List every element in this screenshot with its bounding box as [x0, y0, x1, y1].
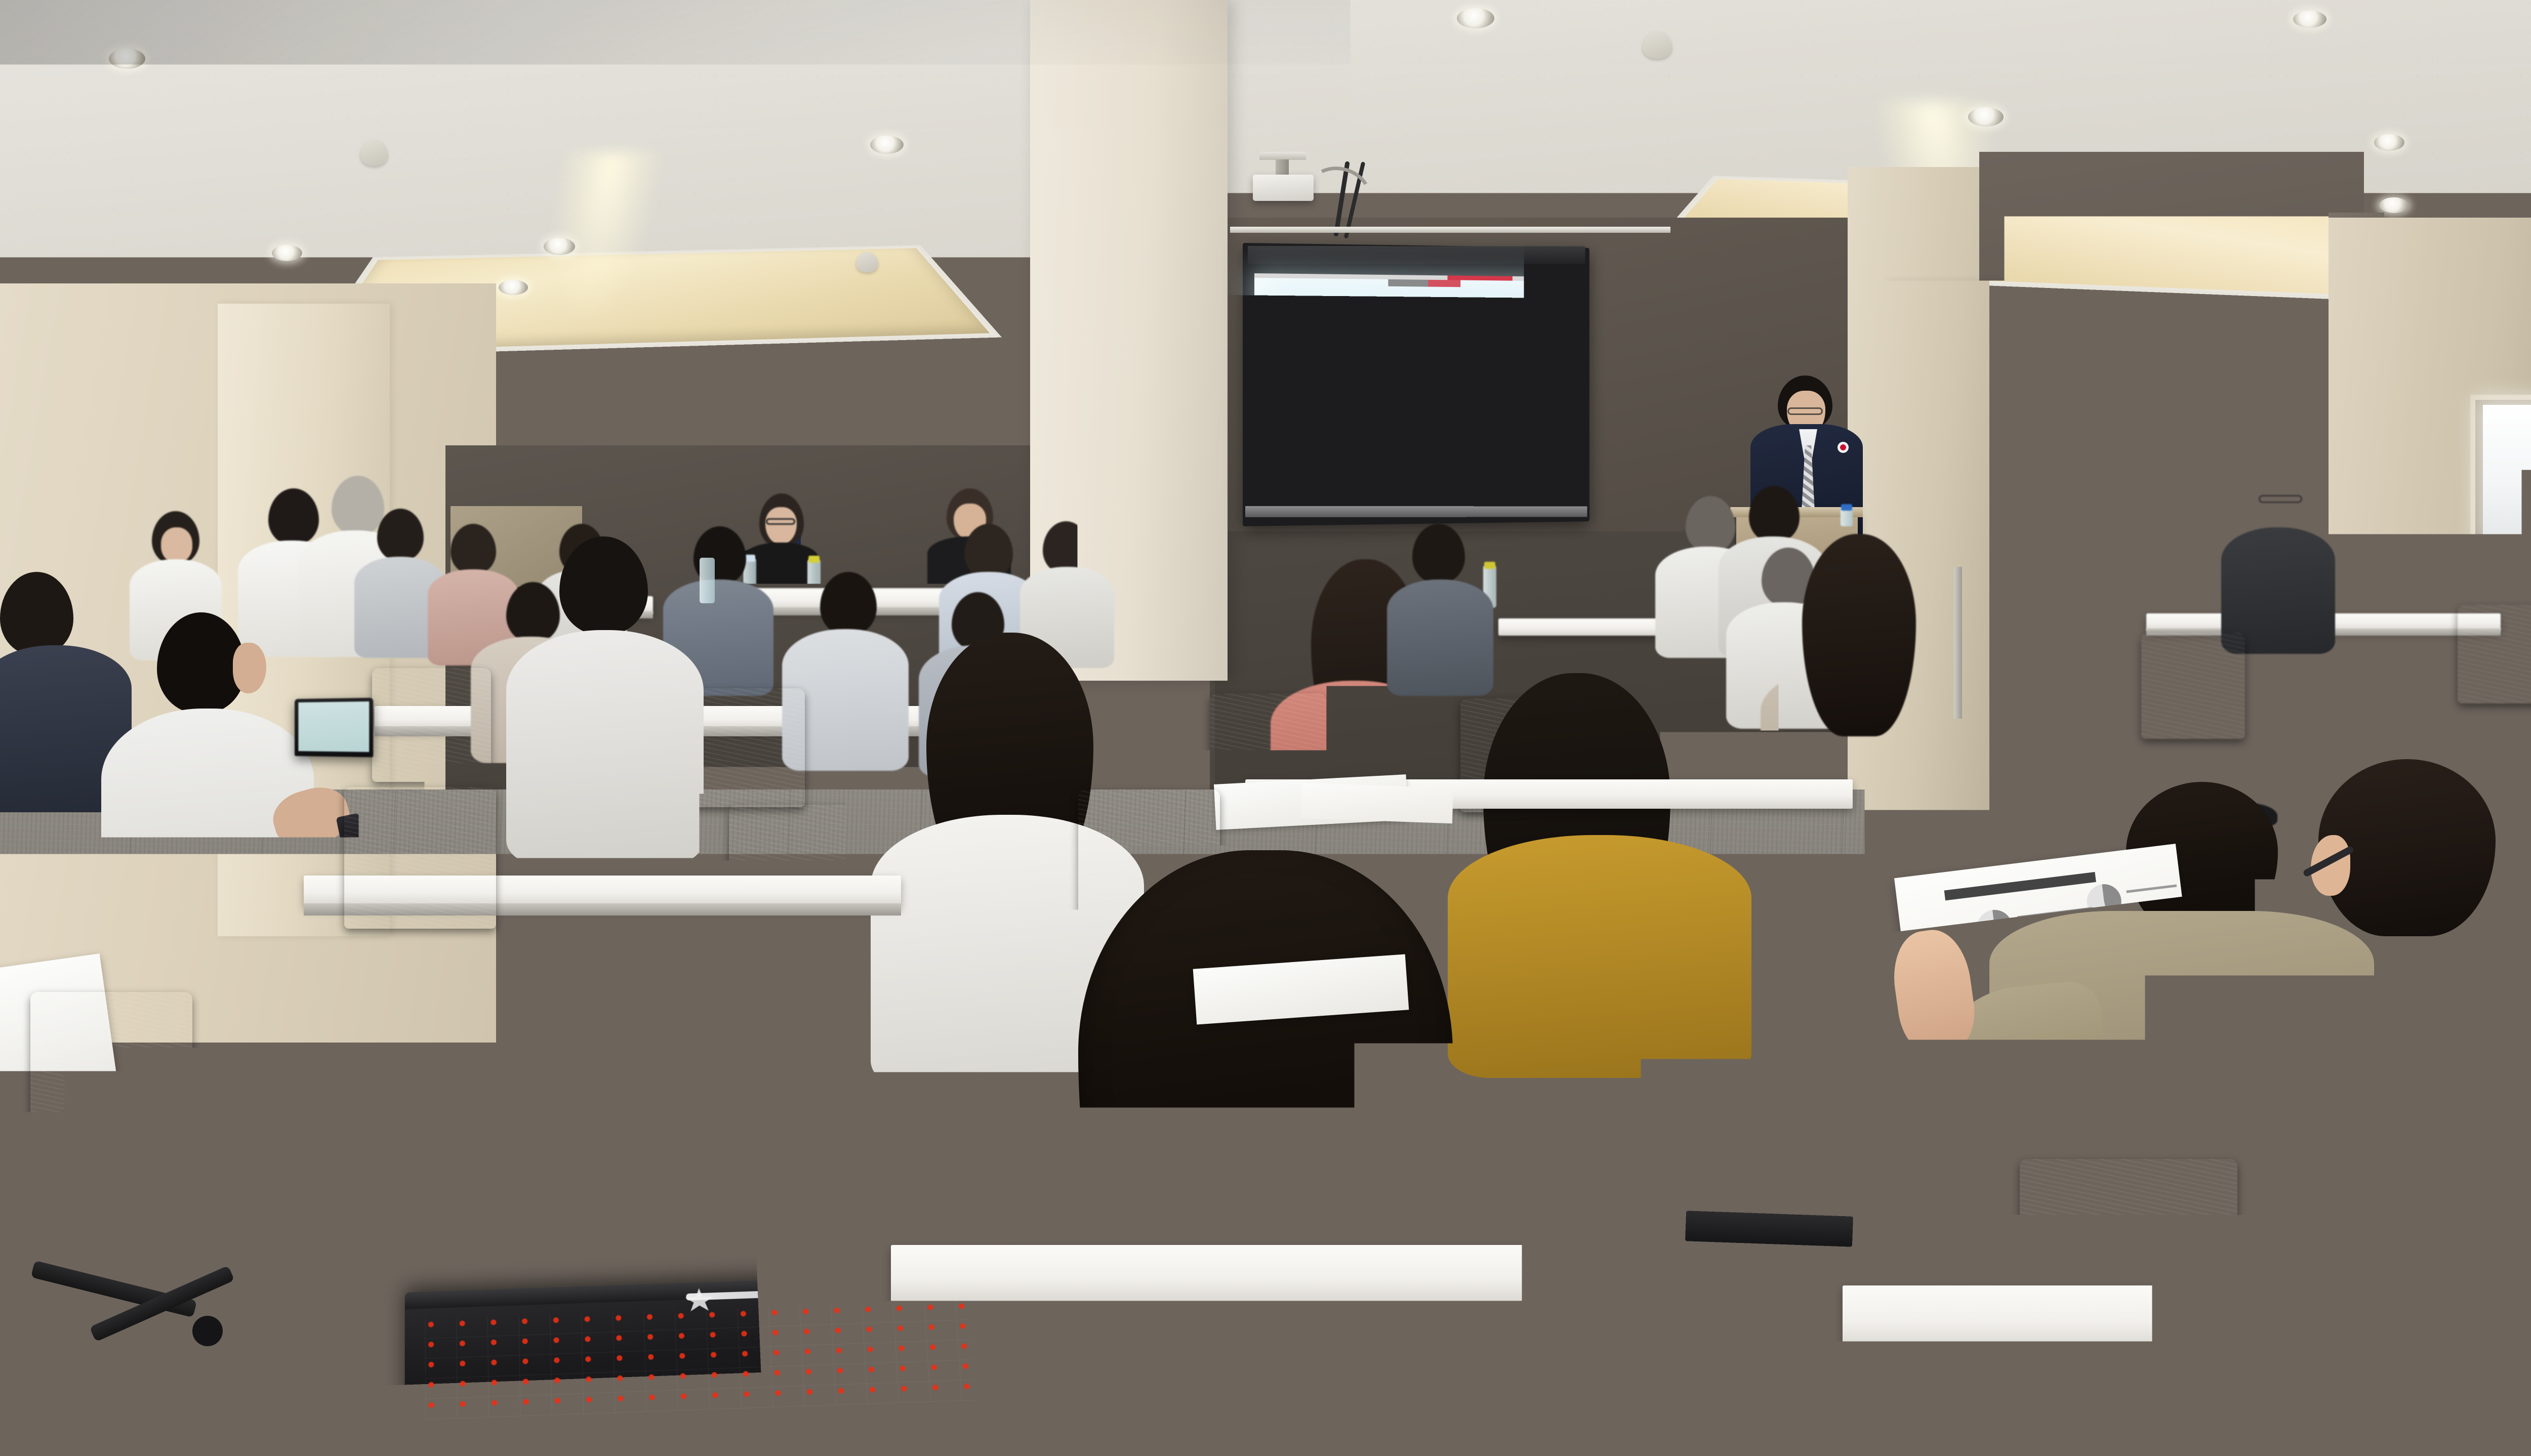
downlight — [2374, 134, 2404, 151]
presenter-glasses-icon — [1787, 407, 1823, 415]
handout-pie-chart — [2085, 882, 2124, 921]
projector-icon — [1253, 175, 1314, 201]
taskbar-app-icon[interactable] — [639, 1255, 649, 1264]
slide-schedule-line2: 13:30-16:40 — [1265, 460, 1379, 475]
attendee-torso — [1387, 579, 1493, 696]
downlight — [499, 280, 528, 295]
systray-icon[interactable] — [976, 1246, 984, 1253]
projection-screen-top-bar — [1248, 246, 1585, 264]
window-glass — [2483, 405, 2531, 536]
slide-hexagon-collage — [1465, 406, 1574, 491]
laptop-screen — [1136, 785, 1227, 848]
laptop-screen — [617, 1004, 995, 1269]
taskbar-app-icon[interactable] — [666, 1254, 676, 1263]
laptop-webcam-icon — [804, 994, 809, 999]
banner-stand-pole — [1954, 567, 1962, 719]
email-toolbar — [1706, 1070, 1843, 1088]
account-avatar[interactable] — [1812, 1092, 1826, 1106]
laptop[interactable] — [1131, 781, 1231, 854]
slide-logo — [1389, 279, 1461, 287]
email-toolbar-icon[interactable] — [1791, 1076, 1798, 1083]
banner-header-text: Embassy of Japan in Vietnam — [1915, 296, 2012, 305]
taskbar-app-icon[interactable] — [680, 1253, 689, 1263]
laptop-screen — [298, 701, 369, 752]
tote-bag — [1098, 1032, 1291, 1210]
seminar-room-photo: 日越人材育成セミナー － 育成就労制度の最新情報 － Hội thảo phát… — [0, 0, 2531, 1456]
handout-title-bar — [1944, 872, 2096, 900]
slide-hex-photo — [1537, 407, 1572, 449]
downlight — [2293, 11, 2326, 28]
attendee-face — [161, 527, 192, 563]
email-list-divider — [1706, 1106, 1808, 1110]
attendee-torso — [101, 709, 314, 982]
attendee-glasses-icon — [2259, 495, 2302, 503]
taskbar-app-icon[interactable] — [652, 1254, 662, 1264]
chair — [2458, 605, 2531, 703]
chair — [2020, 1159, 2237, 1361]
water-bottle-cap — [808, 556, 820, 563]
slide-title-line1: 日越人材育成セミナー — [1254, 297, 1583, 328]
vietnam-flag-icon: ★ — [1965, 335, 2002, 361]
printed-handout-pie-charts — [1894, 844, 2196, 1044]
laptop-touchpad[interactable] — [476, 1410, 661, 1456]
slide-hex-photo — [1467, 449, 1502, 491]
chair — [729, 805, 876, 941]
chair — [372, 668, 491, 782]
handout-pie-chart — [2030, 985, 2066, 1021]
downlight — [544, 238, 575, 255]
chair — [30, 992, 192, 1144]
slide-schedule-line1: 13:30-16:40 — [1265, 445, 1379, 461]
handout-pie-chart — [1996, 950, 2039, 993]
projector-conduit-rail — [1230, 227, 1670, 233]
banner-body-line3: Strategic Partnership — [1891, 418, 2037, 435]
downlight — [1457, 8, 1494, 28]
email-list-divider — [1705, 1125, 1807, 1129]
laptop-key-grid — [425, 1300, 974, 1420]
chair — [344, 787, 496, 929]
slide-subtitle-vi-1: Hội thảo phát triển nhân lực Nhật Bản – … — [1254, 353, 1583, 367]
slide-title-line2: － 育成就労制度の最新情報 － — [1254, 324, 1583, 351]
word-document-area[interactable] — [618, 1052, 995, 1253]
water-bottle — [807, 559, 821, 602]
briefcase-clasp-icon — [540, 886, 556, 898]
slide-hex-photo — [1537, 448, 1572, 490]
laptop[interactable] — [295, 698, 373, 758]
laptop-base — [1685, 1211, 1853, 1246]
chair — [2141, 633, 2245, 739]
presenter-lapel-pin-icon — [1838, 442, 1849, 453]
slide-subtitle-vi-2: Thông tin mới nhất về chế độ Việc làm để… — [1254, 369, 1583, 383]
compose-button-label — [1780, 1095, 1803, 1100]
downlight — [272, 245, 302, 261]
laptop-right[interactable] — [1695, 1052, 1851, 1219]
handout-text-line — [2017, 907, 2093, 919]
attendee-torso-mustard — [1448, 835, 1751, 1078]
water-bottle-cap — [1841, 504, 1852, 511]
rollup-banner: Embassy of Japan in Vietnam ★ Japan – Vi… — [1891, 283, 2037, 567]
downlight — [1968, 107, 2004, 127]
downlight — [2379, 197, 2408, 213]
banner-header: Embassy of Japan in Vietnam — [1895, 287, 2032, 313]
printed-handout — [1300, 783, 1453, 823]
handout-pie-chart — [1975, 908, 2014, 947]
handout-text-line — [2043, 950, 2124, 962]
word-app-button[interactable] — [620, 1007, 637, 1017]
systray-icon[interactable] — [965, 1246, 972, 1254]
laptop-screen — [1702, 1061, 1843, 1208]
projector-ceiling-plate — [1259, 152, 1306, 160]
sprinkler-head — [856, 252, 878, 272]
banner-body-line1: Japan – Vietnam — [1891, 383, 2037, 400]
banner-body: Japan – Vietnam Comprehensive Strategic … — [1891, 383, 2037, 435]
desk-leg — [61, 1182, 74, 1435]
email-sidebar-icon[interactable] — [1812, 1113, 1820, 1120]
email-sidebar-icon[interactable] — [1810, 1175, 1818, 1182]
laptop-asus[interactable]: ASUS — [593, 976, 1042, 1308]
slide-hex-photo — [1467, 407, 1502, 449]
handout-text-line — [2072, 986, 2143, 997]
projection-screen-surface: 日越人材育成セミナー － 育成就労制度の最新情報 － Hội thảo phát… — [1254, 273, 1583, 502]
chair-caster — [192, 1316, 223, 1346]
banner-body-line2: Comprehensive — [1891, 400, 2037, 418]
water-bottle-cap — [1484, 562, 1495, 569]
slide-schedule: 13:30-16:40 13:30-16:40 — [1265, 445, 1379, 476]
word-ribbon-tabs[interactable] — [639, 1008, 808, 1014]
downlight — [109, 49, 145, 69]
downlight — [870, 136, 904, 154]
email-sidebar-icon[interactable] — [1811, 1129, 1820, 1136]
email-sidebar-icon[interactable] — [1811, 1144, 1819, 1151]
projection-screen-bottom-rail — [1245, 506, 1587, 517]
attendee-torso — [506, 630, 704, 863]
handout-text-line — [2126, 884, 2177, 893]
attendee-torso-blue — [2187, 997, 2531, 1456]
japan-flag-icon — [1921, 335, 1958, 361]
email-sidebar-icon[interactable] — [1810, 1159, 1819, 1167]
water-bottle — [700, 558, 715, 603]
word-ribbon-controls[interactable] — [625, 1022, 978, 1047]
panelist-glasses-icon — [766, 518, 795, 525]
banner-flags: ★ — [1921, 332, 2007, 363]
email-toolbar-icon[interactable] — [1776, 1076, 1782, 1082]
mouse-highlight — [1884, 1393, 1904, 1408]
